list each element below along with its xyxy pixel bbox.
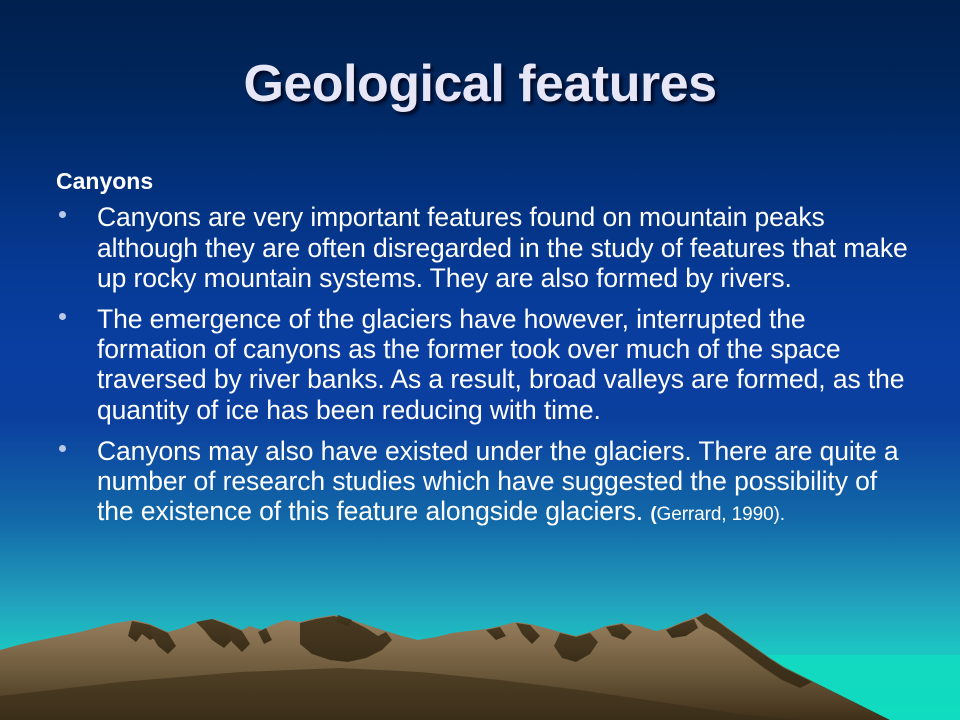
bullet-text: The emergence of the glaciers have howev… [97,304,904,425]
bullet-item-1: Canyons are very important features foun… [56,202,916,293]
bullet-item-3: Canyons may also have existed under the … [56,436,916,527]
slide: Geological features Canyons Canyons are … [0,0,960,720]
slide-title: Geological features [0,54,960,114]
citation-reference: Gerrard, 1990). [657,504,785,525]
bullet-item-2: The emergence of the glaciers have howev… [56,304,916,425]
bullet-text: Canyons are very important features foun… [97,202,908,292]
bullet-dot-icon [59,445,66,452]
section-subheading: Canyons [56,168,916,194]
bullet-list: Canyons are very important features foun… [56,202,916,526]
bullet-dot-icon [59,211,66,218]
mountain-silhouette-graphic [0,610,960,720]
bullet-dot-icon [59,313,66,320]
slide-body: Canyons Canyons are very important featu… [56,168,916,537]
